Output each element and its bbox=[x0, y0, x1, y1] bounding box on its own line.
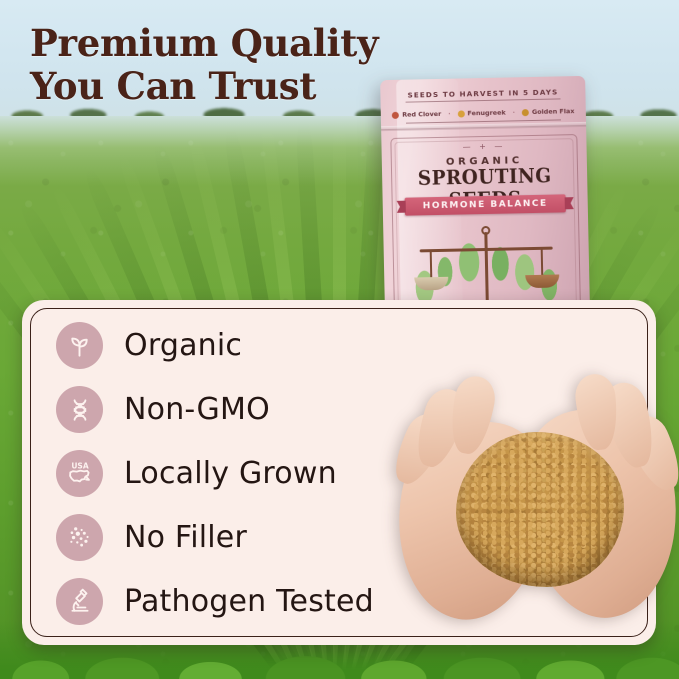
red-clover-icon bbox=[392, 111, 399, 118]
golden-flax-icon bbox=[522, 109, 529, 116]
seed-variety-1: Fenugreek bbox=[457, 109, 505, 118]
headline-line-1: Premium Quality bbox=[30, 22, 430, 65]
feature-label: No Filler bbox=[124, 520, 247, 555]
separator-dot: · bbox=[448, 110, 450, 117]
usa-map-icon: USA bbox=[56, 450, 103, 497]
feature-label: Pathogen Tested bbox=[124, 584, 374, 619]
seed-variety-label: Golden Flax bbox=[532, 107, 575, 116]
ribbon-label: HORMONE BALANCE bbox=[423, 199, 548, 212]
hormone-balance-ribbon: HORMONE BALANCE bbox=[405, 194, 566, 215]
seed-variety-label: Fenugreek bbox=[467, 109, 505, 118]
feature-label: Locally Grown bbox=[124, 456, 337, 491]
particles-icon bbox=[56, 514, 103, 561]
dna-helix-icon bbox=[56, 386, 103, 433]
feature-row: Organic bbox=[56, 316, 636, 376]
svg-text:USA: USA bbox=[71, 462, 89, 471]
seed-variety-label: Red Clover bbox=[402, 110, 441, 119]
seed-variety-2: Golden Flax bbox=[522, 107, 575, 116]
promo-image: Premium Quality You Can Trust SEEDS TO H… bbox=[0, 0, 679, 679]
sprout-leaf-icon bbox=[56, 322, 103, 369]
seed-pile bbox=[456, 432, 624, 587]
separator-dot: · bbox=[513, 109, 515, 116]
headline-line-2: You Can Trust bbox=[30, 65, 430, 108]
microscope-icon bbox=[56, 578, 103, 625]
hands-holding-seeds bbox=[396, 372, 679, 655]
feature-label: Organic bbox=[124, 328, 242, 363]
fenugreek-icon bbox=[457, 110, 464, 117]
page-title: Premium Quality You Can Trust bbox=[30, 22, 430, 108]
seed-variety-0: Red Clover bbox=[392, 110, 441, 119]
feature-label: Non-GMO bbox=[124, 392, 270, 427]
